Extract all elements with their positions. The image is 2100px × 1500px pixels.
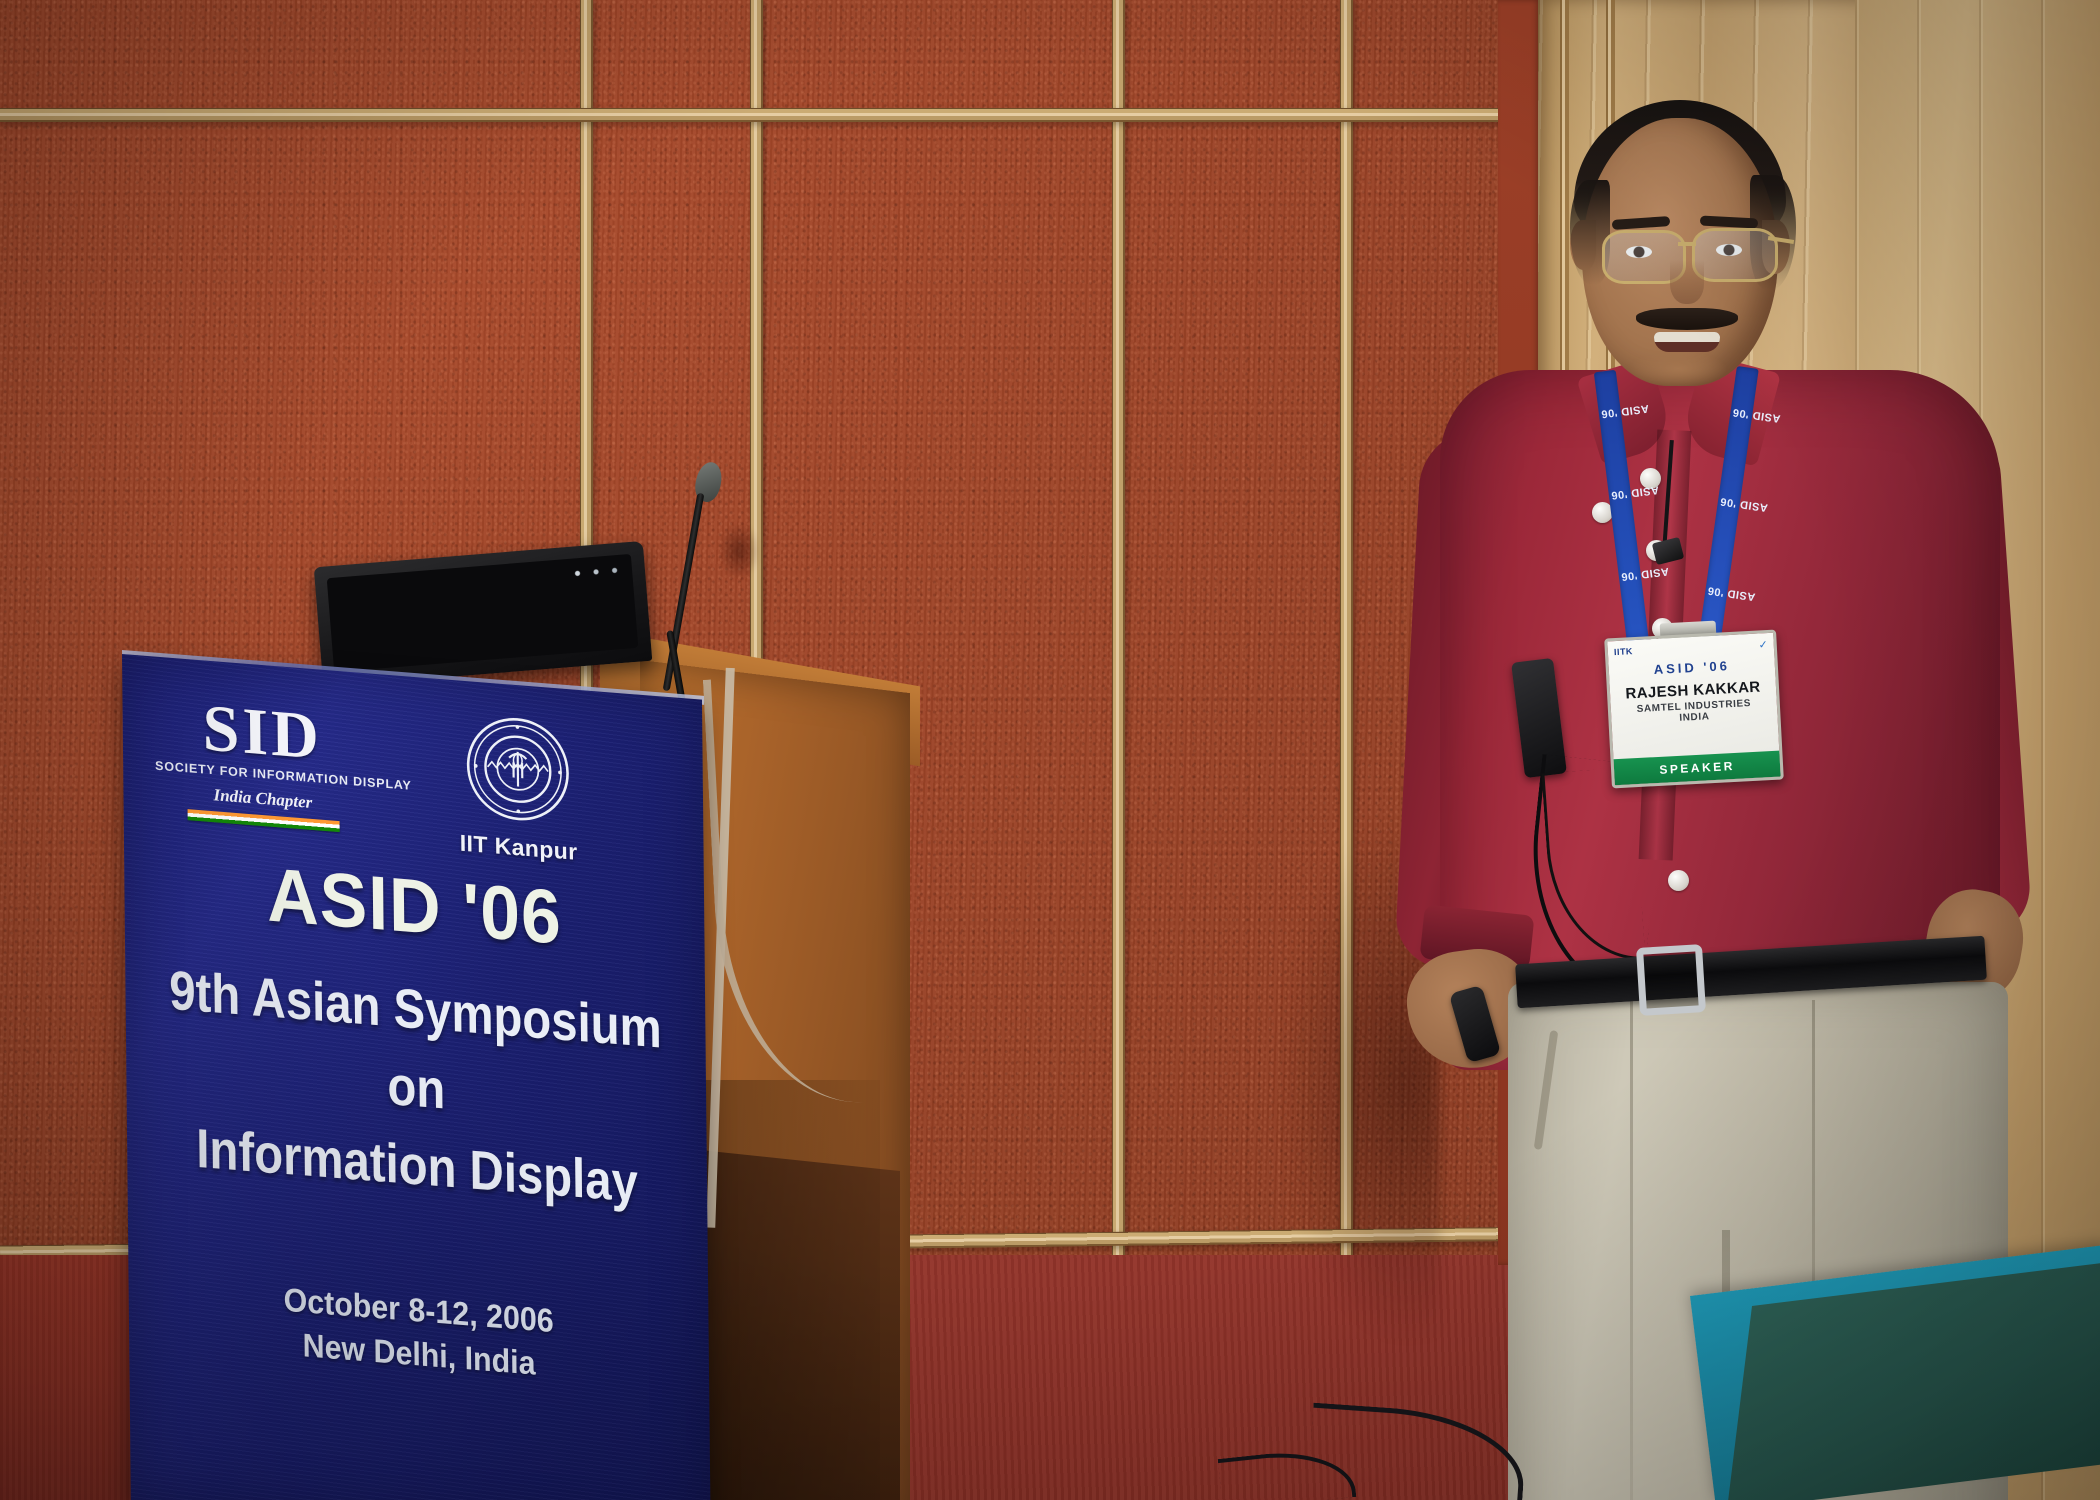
photo-scene: SID SOCIETY FOR INFORMATION DISPLAY Indi… (0, 0, 2100, 1500)
badge-role-label: SPEAKER (1659, 759, 1735, 777)
trouser-pleat (1630, 1000, 1633, 1500)
microphone-shadow (718, 522, 760, 580)
eyeglasses-bridge (1678, 242, 1696, 246)
wall-batten-vertical (1112, 0, 1125, 1258)
sid-logo: SID SOCIETY FOR INFORMATION DISPLAY Indi… (154, 695, 370, 835)
eyeglasses-lens-right (1692, 228, 1778, 282)
moustache (1636, 308, 1738, 330)
wall-batten-horizontal (0, 108, 1560, 122)
iit-kanpur-logo: IIT Kanpur (422, 708, 614, 869)
mouth (1654, 332, 1720, 352)
belt-buckle (1636, 944, 1706, 1016)
iit-kanpur-seal-icon (463, 711, 572, 828)
check-icon: ✓ (1758, 638, 1768, 651)
shirt-button (1668, 870, 1689, 891)
nose (1670, 260, 1704, 304)
iit-kanpur-label: IIT Kanpur (424, 827, 614, 869)
badge-issuer-label: IITK (1614, 646, 1633, 657)
chin (1630, 352, 1726, 386)
banner-content: SID SOCIETY FOR INFORMATION DISPLAY Indi… (122, 654, 711, 1500)
teeth (1654, 332, 1720, 342)
